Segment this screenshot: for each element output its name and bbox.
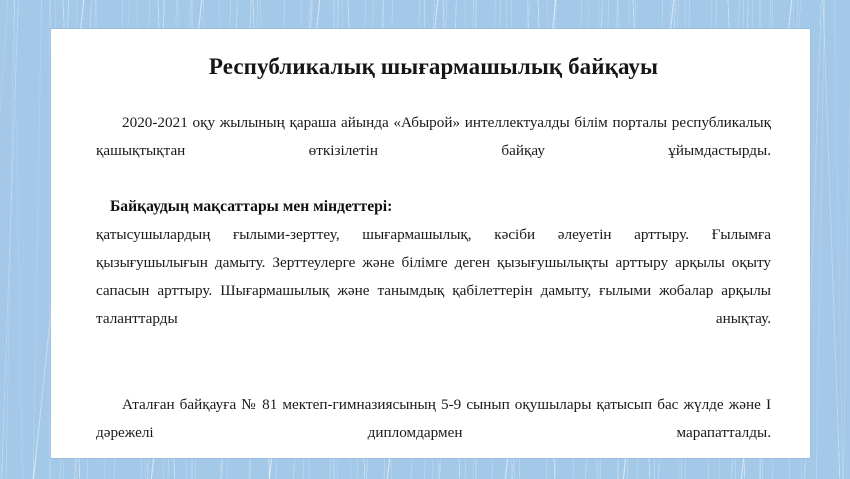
slide-title: Республикалық шығармашылық байқауы bbox=[96, 29, 771, 81]
body-paragraph-goals: қатысушылардың ғылыми-зерттеу, шығармашы… bbox=[96, 221, 771, 361]
slide-content-card: Республикалық шығармашылық байқауы 2020-… bbox=[51, 29, 810, 458]
body-paragraph-intro: 2020-2021 оқу жылының қараша айында «Абы… bbox=[96, 109, 771, 193]
presentation-slide: Республикалық шығармашылық байқауы 2020-… bbox=[0, 0, 850, 479]
body-subheading-goals: Байқаудың мақсаттары мен міндеттері: bbox=[96, 193, 771, 221]
spacer bbox=[96, 361, 771, 391]
slide-content-inner: Республикалық шығармашылық байқауы 2020-… bbox=[96, 29, 771, 458]
body-paragraph-results: Аталған байқауға № 81 мектеп-гимназиясын… bbox=[96, 391, 771, 458]
slide-body: 2020-2021 оқу жылының қараша айында «Абы… bbox=[96, 109, 771, 458]
